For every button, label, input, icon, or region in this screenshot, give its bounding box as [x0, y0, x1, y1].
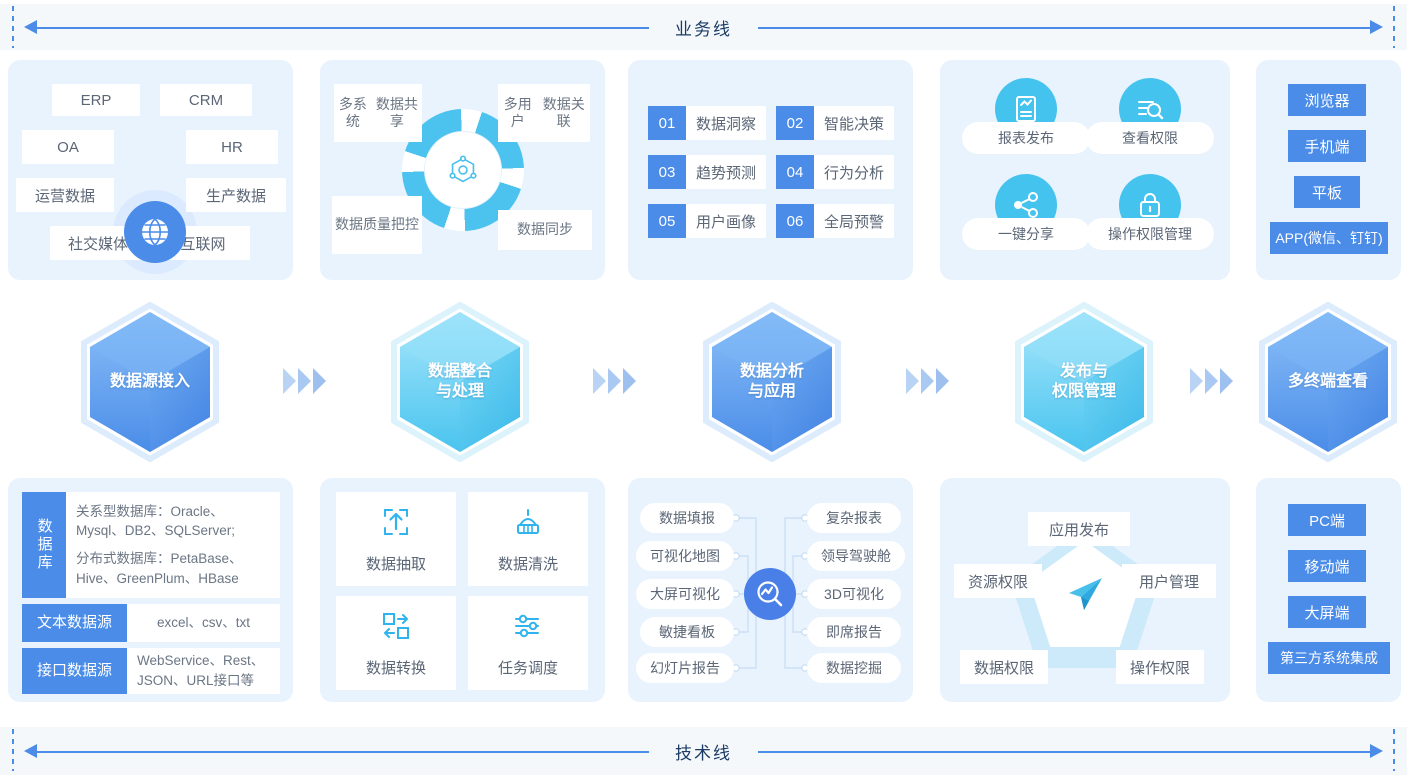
- publish-tile-share[interactable]: 一键分享: [962, 174, 1090, 286]
- banner-bottom-right-arrow-icon: [1370, 744, 1383, 758]
- mindmap-right-4[interactable]: 数据挖掘: [807, 653, 901, 683]
- db-row-textsource-key: 文本数据源: [22, 604, 127, 642]
- stage-hex-integration-label: 数据整合 与处理: [390, 302, 530, 462]
- ring-label-quality-l2: 把控: [391, 216, 419, 234]
- chip-erp[interactable]: ERP: [52, 84, 140, 116]
- banner-right-line: [749, 27, 1379, 29]
- panel-business-data-sources: ERP CRM OA HR 运营数据 生产数据 社交媒体 互联网: [8, 60, 293, 280]
- numbered-item-01[interactable]: 01 数据洞察: [648, 106, 766, 140]
- db-row-apisource-key: 接口数据源: [22, 648, 127, 694]
- numbered-item-06-label: 全局预警: [814, 204, 894, 238]
- banner-bottom-right-dash: [1393, 729, 1395, 771]
- numbered-item-05-num: 05: [648, 204, 686, 238]
- ring-label-multiuser[interactable]: 多用户 数据关联: [498, 84, 590, 142]
- mindmap-left-3[interactable]: 敏捷看板: [640, 617, 734, 647]
- perm-chip-data[interactable]: 数据权限: [960, 650, 1048, 684]
- chevron-arrow-2-icon: [593, 368, 636, 394]
- diagram-canvas: 业务线 ERP CRM OA HR 运营数据 生产数据 社交媒体 互联网: [0, 0, 1407, 783]
- numbered-item-04-num: 04: [776, 155, 814, 189]
- stage-2-l2: 与应用: [748, 383, 796, 400]
- chip-operations-data[interactable]: 运营数据: [16, 178, 114, 212]
- numbered-item-02[interactable]: 02 智能决策: [776, 106, 894, 140]
- business-line-label: 业务线: [649, 15, 758, 40]
- stage-1-l1: 数据整合: [428, 363, 492, 380]
- mindmap-right-2[interactable]: 3D可视化: [807, 579, 901, 609]
- numbered-item-03-label: 趋势预测: [686, 155, 766, 189]
- numbered-item-02-label: 智能决策: [814, 106, 894, 140]
- process-tile-extract-label: 数据抽取: [366, 553, 426, 574]
- mindmap-left-1[interactable]: 可视化地图: [636, 541, 734, 571]
- publish-tile-report-label: 报表发布: [962, 122, 1090, 154]
- numbered-item-04[interactable]: 04 行为分析: [776, 155, 894, 189]
- mindmap-left-0[interactable]: 数据填报: [640, 503, 734, 533]
- ring-label-multisystem-l2: 数据共享: [372, 96, 422, 131]
- stage-1-l2: 与处理: [436, 383, 484, 400]
- tech-terminal-pill-mobile[interactable]: 移动端: [1288, 550, 1366, 582]
- db-relational-text: 关系型数据库：Oracle、Mysql、DB2、SQLServer;: [76, 502, 270, 541]
- stage-hex-multiterminal[interactable]: 多终端查看: [1258, 302, 1398, 462]
- chip-hr[interactable]: HR: [186, 130, 278, 164]
- db-row-apisource[interactable]: 接口数据源 WebService、Rest、JSON、URL接口等: [22, 648, 280, 694]
- panel-tech-permission: 应用发布 资源权限 用户管理 数据权限 操作权限: [940, 478, 1230, 702]
- db-row-database[interactable]: 数据库 关系型数据库：Oracle、Mysql、DB2、SQLServer; 分…: [22, 492, 280, 598]
- chip-oa[interactable]: OA: [22, 130, 114, 164]
- publish-tile-operation-permission[interactable]: 操作权限管理: [1086, 174, 1214, 286]
- mindmap-right-1[interactable]: 领导驾驶舱: [807, 541, 905, 571]
- banner-left-arrow-icon: [24, 20, 37, 34]
- numbered-item-01-num: 01: [648, 106, 686, 140]
- business-line-banner: 业务线: [0, 4, 1407, 50]
- stage-hex-analysis-label: 数据分析 与应用: [702, 302, 842, 462]
- stage-hex-data-source[interactable]: 数据源接入: [80, 302, 220, 462]
- publish-tile-view-permission-label: 查看权限: [1086, 122, 1214, 154]
- ring-label-multiuser-l1: 多用户: [498, 96, 537, 131]
- tech-terminal-pill-thirdparty[interactable]: 第三方系统集成: [1268, 642, 1390, 674]
- chevron-arrow-3-icon: [906, 368, 949, 394]
- ring-label-multisystem-l1: 多系统: [334, 96, 372, 131]
- banner-bottom-left-dash: [12, 729, 14, 771]
- chevron-arrow-4-icon: [1190, 368, 1233, 394]
- mindmap-left-2[interactable]: 大屏可视化: [636, 579, 734, 609]
- panel-tech-processing: 数据抽取 数据清洗 数据转换: [320, 478, 605, 702]
- ring-label-quality-l1: 数据质量: [335, 216, 391, 234]
- db-row-textsource[interactable]: 文本数据源 excel、csv、txt: [22, 604, 280, 642]
- numbered-item-03-num: 03: [648, 155, 686, 189]
- chevron-arrow-1-icon: [283, 368, 326, 394]
- perm-chip-resource[interactable]: 资源权限: [954, 564, 1042, 598]
- mindmap-right-3[interactable]: 即席报告: [807, 617, 901, 647]
- banner-bottom-right-line: [749, 751, 1379, 753]
- tech-line-banner: 技术线: [0, 727, 1407, 775]
- db-row-textsource-value: excel、csv、txt: [127, 604, 280, 642]
- numbered-item-05-label: 用户画像: [686, 204, 766, 238]
- ring-label-multisystem[interactable]: 多系统 数据共享: [334, 84, 422, 142]
- globe-network-icon: [124, 201, 186, 263]
- tech-terminal-pill-pc[interactable]: PC端: [1288, 504, 1366, 536]
- process-tile-schedule-label: 任务调度: [498, 657, 558, 678]
- process-tile-clean[interactable]: 数据清洗: [468, 492, 588, 586]
- panel-business-integration: 多系统 数据共享 多用户 数据关联 数据质量 把控 数据同步: [320, 60, 605, 280]
- process-tile-clean-label: 数据清洗: [498, 553, 558, 574]
- chip-crm[interactable]: CRM: [160, 84, 252, 116]
- db-row-database-key: 数据库: [22, 492, 66, 598]
- stage-3-l2: 权限管理: [1052, 383, 1116, 400]
- stage-3-l1: 发布与: [1060, 363, 1108, 380]
- numbered-item-06[interactable]: 06 全局预警: [776, 204, 894, 238]
- stage-hex-integration[interactable]: 数据整合 与处理: [390, 302, 530, 462]
- process-tile-transform[interactable]: 数据转换: [336, 596, 456, 690]
- panel-tech-data-sources: 数据库 关系型数据库：Oracle、Mysql、DB2、SQLServer; 分…: [8, 478, 293, 702]
- stage-hex-publish[interactable]: 发布与 权限管理: [1014, 302, 1154, 462]
- terminal-pill-app[interactable]: APP(微信、钉钉): [1270, 222, 1388, 254]
- analytics-search-icon: [744, 568, 796, 620]
- banner-left-dash: [12, 6, 14, 48]
- terminal-pill-mobile[interactable]: 手机端: [1288, 130, 1366, 162]
- sliders-schedule-icon: [511, 609, 545, 647]
- tech-line-label: 技术线: [649, 739, 758, 764]
- tech-terminal-pill-bigscreen[interactable]: 大屏端: [1288, 596, 1366, 628]
- ring-label-multiuser-l2: 数据关联: [537, 96, 590, 131]
- numbered-item-01-label: 数据洞察: [686, 106, 766, 140]
- numbered-item-02-num: 02: [776, 106, 814, 140]
- numbered-item-04-label: 行为分析: [814, 155, 894, 189]
- banner-right-dash: [1393, 6, 1395, 48]
- data-node-icon: [424, 131, 502, 209]
- ring-label-quality[interactable]: 数据质量 把控: [332, 196, 422, 254]
- stage-0-l1: 数据源接入: [110, 372, 190, 392]
- banner-right-arrow-icon: [1370, 20, 1383, 34]
- banner-bottom-left-arrow-icon: [24, 744, 37, 758]
- banner-bottom-left-line: [28, 751, 658, 753]
- db-row-apisource-value: WebService、Rest、JSON、URL接口等: [127, 648, 280, 694]
- upload-box-icon: [379, 505, 413, 543]
- db-distributed-text: 分布式数据库：PetaBase、Hive、GreenPlum、HBase: [76, 549, 270, 588]
- numbered-item-06-num: 06: [776, 204, 814, 238]
- terminal-pill-browser[interactable]: 浏览器: [1288, 84, 1366, 116]
- stage-hex-data-source-label: 数据源接入: [80, 302, 220, 462]
- panel-business-terminals: 浏览器 手机端 平板 APP(微信、钉钉): [1256, 60, 1401, 280]
- perm-chip-app-publish[interactable]: 应用发布: [1028, 512, 1130, 546]
- stage-hex-multiterminal-label: 多终端查看: [1258, 302, 1398, 462]
- mindmap-left-4[interactable]: 幻灯片报告: [636, 653, 734, 683]
- terminal-pill-tablet[interactable]: 平板: [1294, 176, 1360, 208]
- perm-chip-user-mgmt[interactable]: 用户管理: [1122, 564, 1216, 598]
- perm-chip-operation[interactable]: 操作权限: [1116, 650, 1204, 684]
- broom-clean-icon: [511, 505, 545, 543]
- stage-hex-publish-label: 发布与 权限管理: [1014, 302, 1154, 462]
- panel-tech-analysis: 数据填报 可视化地图 大屏可视化 敏捷看板 幻灯片报告 复杂报表 领导驾驶舱 3…: [628, 478, 913, 702]
- numbered-item-03[interactable]: 03 趋势预测: [648, 155, 766, 189]
- process-tile-extract[interactable]: 数据抽取: [336, 492, 456, 586]
- stage-hex-analysis[interactable]: 数据分析 与应用: [702, 302, 842, 462]
- panel-business-publish: 报表发布 查看权限 一键分享: [940, 60, 1230, 280]
- publish-tile-share-label: 一键分享: [962, 218, 1090, 250]
- db-row-database-values: 关系型数据库：Oracle、Mysql、DB2、SQLServer; 分布式数据…: [66, 492, 280, 598]
- panel-tech-terminals: PC端 移动端 大屏端 第三方系统集成: [1256, 478, 1401, 702]
- process-tile-schedule[interactable]: 任务调度: [468, 596, 588, 690]
- mindmap-right-0[interactable]: 复杂报表: [807, 503, 901, 533]
- numbered-item-05[interactable]: 05 用户画像: [648, 204, 766, 238]
- banner-left-line: [28, 27, 658, 29]
- ring-label-sync[interactable]: 数据同步: [498, 210, 592, 250]
- publish-tile-operation-permission-label: 操作权限管理: [1086, 218, 1214, 250]
- stage-4-l1: 多终端查看: [1288, 372, 1368, 392]
- process-tile-transform-label: 数据转换: [366, 657, 426, 678]
- panel-business-analysis: 01 数据洞察 02 智能决策 03 趋势预测 04 行为分析 05 用户画像 …: [628, 60, 913, 280]
- stage-2-l1: 数据分析: [740, 363, 804, 380]
- transform-swap-icon: [379, 609, 413, 647]
- chip-production-data[interactable]: 生产数据: [186, 178, 286, 212]
